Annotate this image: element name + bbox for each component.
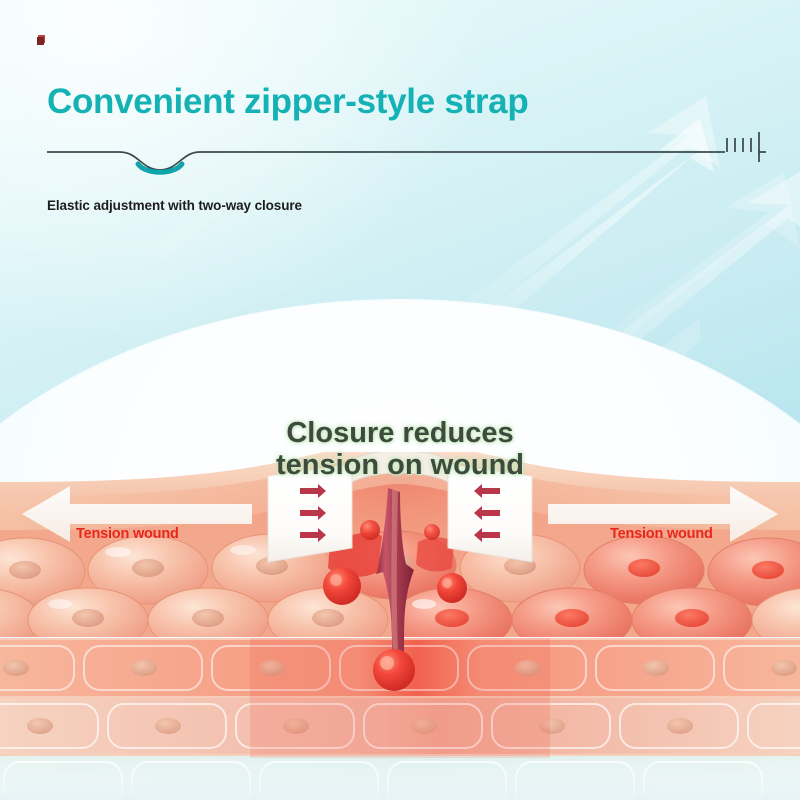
blood-cell [424, 524, 440, 540]
zipper-rule-line-icon [0, 130, 800, 180]
blood-cell [360, 520, 380, 540]
corner-speck-icon [37, 37, 44, 45]
tension-label-left: Tension wound [76, 526, 179, 542]
pad-arrow-right-icon [300, 484, 326, 542]
page-subtitle: Elastic adjustment with two-way closure [47, 198, 302, 213]
skin-cross-section-illustration [0, 452, 800, 800]
blood-cell [323, 567, 361, 605]
illustration-page: Convenient zipper-style strap El [0, 0, 800, 800]
tension-label-right: Tension wound [610, 526, 713, 542]
blood-cell [437, 573, 467, 603]
pad-arrow-left-icon [474, 484, 500, 542]
blood-cell [373, 649, 415, 691]
page-title: Convenient zipper-style strap [47, 82, 528, 122]
